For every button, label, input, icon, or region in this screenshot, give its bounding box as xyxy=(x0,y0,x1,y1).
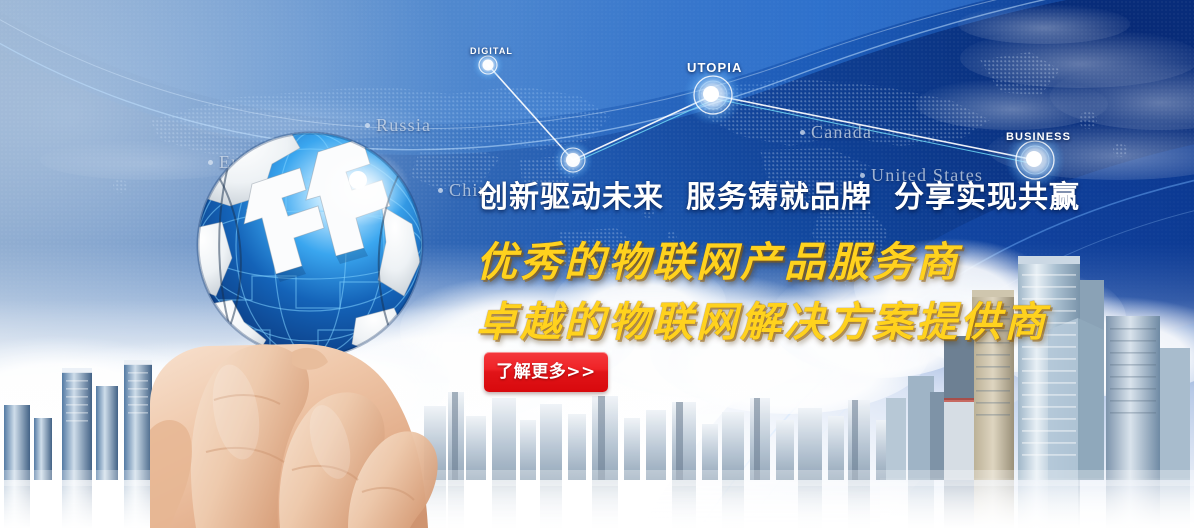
copy-block: 创新驱动未来服务铸就品牌分享实现共赢 优秀的物联网产品服务商 卓越的物联网解决方… xyxy=(0,0,1194,528)
headline-part-3: 分享实现共赢 xyxy=(894,180,1080,215)
slogan-line-2: 卓越的物联网解决方案提供商 xyxy=(476,288,1048,348)
learn-more-button[interactable]: 了解更多>> xyxy=(484,352,608,392)
headline-part-1: 创新驱动未来 xyxy=(478,180,664,215)
headline-part-2: 服务铸就品牌 xyxy=(686,180,872,215)
slogan-line-1: 优秀的物联网产品服务商 xyxy=(476,228,960,288)
headline: 创新驱动未来服务铸就品牌分享实现共赢 xyxy=(478,172,1080,216)
hero-banner: DIGITAL UTOPIA BUSINESS Russia Eu Chin C… xyxy=(0,0,1194,528)
